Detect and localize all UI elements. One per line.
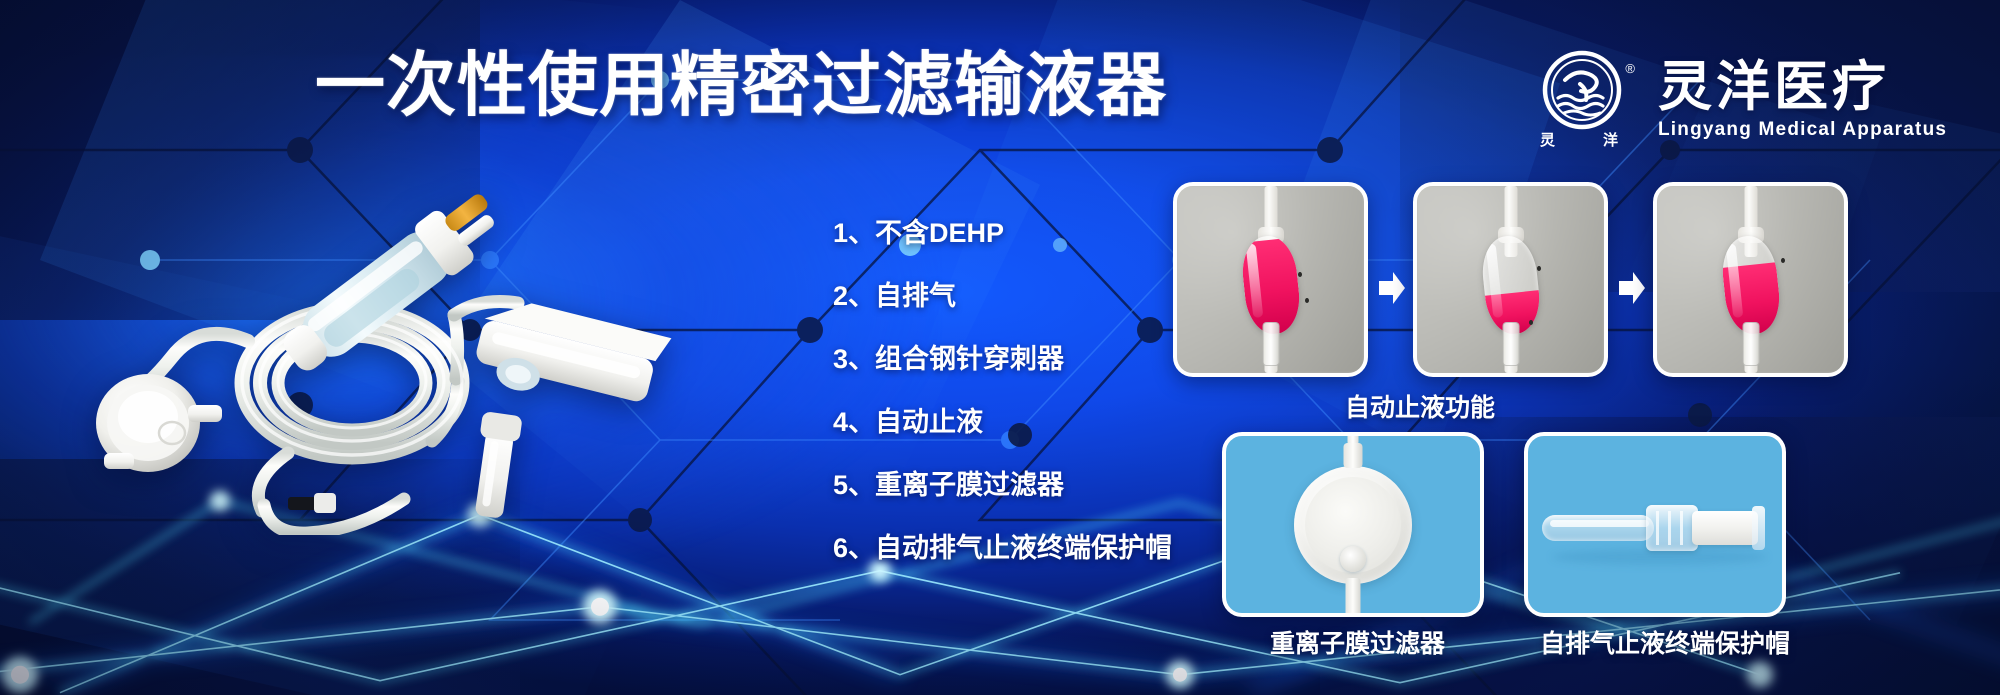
- detail-photo-filter: [1222, 432, 1484, 617]
- cap-flange: [1752, 506, 1765, 550]
- speck: [1781, 258, 1785, 263]
- speck: [1529, 320, 1533, 325]
- demo-frame-3: [1653, 182, 1848, 377]
- right-arrow-icon-1: [1377, 270, 1407, 306]
- emblem-caption: 灵 洋: [1540, 129, 1618, 150]
- feature-item-4: 4、自动止液: [833, 409, 1163, 436]
- feature-item-2: 2、自排气: [833, 283, 1163, 310]
- banner-title: 一次性使用精密过滤输液器: [315, 48, 1075, 122]
- brand-name-block: 灵洋医疗 Lingyang Medical Apparatus: [1658, 59, 1947, 142]
- membrane-filter-device: [1294, 466, 1412, 584]
- connector-tube: [1542, 515, 1654, 541]
- feature-item-3: 3、组合钢针穿刺器: [833, 346, 1163, 373]
- product-photo-infusion-set: [52, 165, 732, 535]
- detail-caption-filter: 重离子膜过滤器: [1270, 632, 1445, 657]
- feature-item-1: 1、不含DEHP: [833, 220, 1163, 247]
- emblem-caption-right: 洋: [1603, 129, 1618, 150]
- feature-item-6: 6、自动排气止液终端保护帽: [833, 535, 1163, 562]
- device-shadow: [1552, 549, 1767, 565]
- clamp-bar: [1742, 322, 1759, 366]
- protective-cap: [1692, 511, 1758, 545]
- right-arrow-icon-2: [1617, 270, 1647, 306]
- detail-caption-cap: 自排气止液终端保护帽: [1540, 632, 1790, 657]
- filter-outlet-port: [1340, 546, 1366, 572]
- clamp-bar: [1502, 322, 1519, 366]
- brand-name-en: Lingyang Medical Apparatus: [1658, 118, 1947, 142]
- demo-frame-1: [1173, 182, 1368, 377]
- terminal-protective-cap-device: [1542, 485, 1778, 565]
- lingyang-circular-emblem-icon: ® 灵 洋: [1540, 50, 1632, 150]
- filter-inlet-neck: [1344, 443, 1363, 468]
- luer-hub: [1646, 505, 1698, 551]
- speck: [1298, 272, 1302, 277]
- demo-frame-2: [1413, 182, 1608, 377]
- feature-item-5: 5、重离子膜过滤器: [833, 472, 1163, 499]
- filter-outlet-tube: [1346, 578, 1361, 618]
- brand-logo: ® 灵 洋 灵洋医疗 Lingyang Medical Apparatus: [1540, 50, 1947, 150]
- registered-trademark-icon: ®: [1625, 62, 1635, 75]
- brand-name-cn: 灵洋医疗: [1658, 59, 1947, 115]
- feature-list: 1、不含DEHP 2、自排气 3、组合钢针穿刺器 4、自动止液 5、重离子膜过滤…: [833, 220, 1163, 562]
- speck: [1537, 266, 1541, 271]
- emblem-caption-left: 灵: [1540, 129, 1555, 150]
- clamp-bar: [1262, 322, 1279, 366]
- demo-sequence-caption: 自动止液功能: [1345, 396, 1495, 421]
- speck: [1305, 298, 1309, 303]
- detail-photo-cap: [1524, 432, 1786, 617]
- product-banner: 一次性使用精密过滤输液器 ® 灵 洋 灵洋医疗 Lingyang Medical…: [0, 0, 2000, 695]
